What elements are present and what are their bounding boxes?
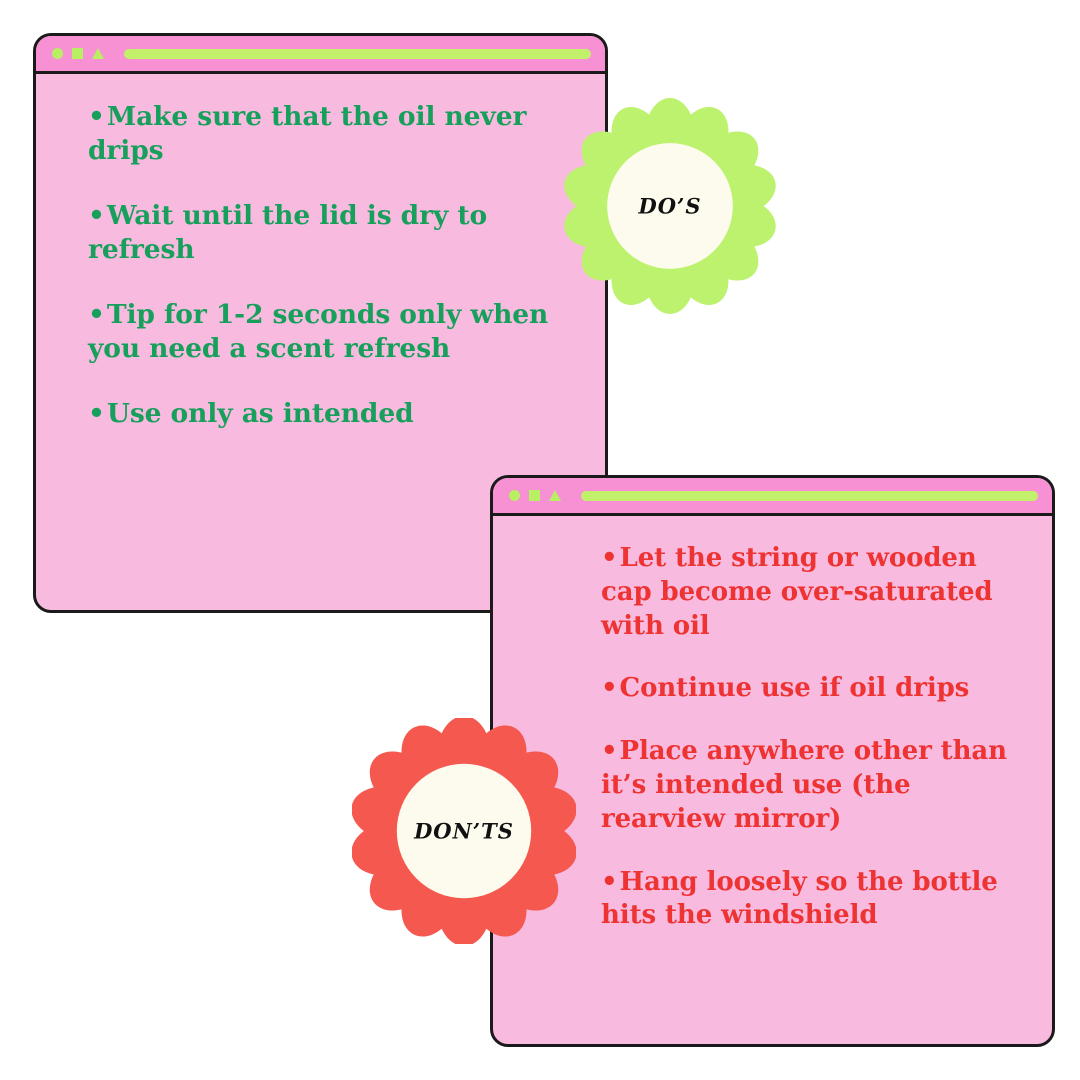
list-item: •Let the string or wooden cap become ove… [601,542,1026,643]
list-item: •Place anywhere other than it’s intended… [601,735,1026,836]
dos-list: •Make sure that the oil never drips •Wai… [88,100,579,431]
donts-window-content: •Let the string or wooden cap become ove… [493,516,1052,1044]
dos-address-bar[interactable] [124,49,591,59]
triangle-icon[interactable] [92,48,104,59]
donts-address-bar[interactable] [581,491,1038,501]
square-icon[interactable] [72,48,83,59]
list-item-text: Let the string or wooden cap become over… [601,543,993,641]
dos-window-controls[interactable] [52,48,104,59]
list-item-text: Wait until the lid is dry to refresh [88,200,487,265]
donts-flower-label: DON’TS [352,819,576,844]
list-item-text: Tip for 1-2 seconds only when you need a… [88,299,548,364]
bullet-marker: • [601,673,618,703]
bullet-marker: • [601,867,618,897]
list-item: •Tip for 1-2 seconds only when you need … [88,298,579,367]
donts-window-titlebar[interactable] [493,478,1052,516]
dos-window-titlebar[interactable] [36,36,605,74]
bullet-marker: • [601,543,618,573]
donts-flower-badge: DON’TS [352,718,576,944]
list-item: •Use only as intended [88,397,579,431]
list-item: •Make sure that the oil never drips [88,100,579,169]
bullet-marker: • [601,736,618,766]
square-icon[interactable] [529,490,540,501]
list-item-text: Use only as intended [107,398,414,429]
list-item: •Hang loosely so the bottle hits the win… [601,866,1026,934]
list-item-text: Make sure that the oil never drips [88,101,526,166]
circle-icon[interactable] [509,490,520,501]
dos-flower-badge: DO’S [562,92,778,320]
donts-list: •Let the string or wooden cap become ove… [601,542,1026,933]
poster-canvas: •Make sure that the oil never drips •Wai… [0,0,1080,1080]
list-item-text: Continue use if oil drips [620,673,970,703]
donts-window-controls[interactable] [509,490,561,501]
circle-icon[interactable] [52,48,63,59]
dos-flower-label: DO’S [562,194,778,219]
bullet-marker: • [88,299,105,330]
list-item-text: Place anywhere other than it’s intended … [601,736,1007,834]
bullet-marker: • [88,101,105,132]
list-item: •Wait until the lid is dry to refresh [88,199,579,268]
bullet-marker: • [88,398,105,429]
list-item-text: Hang loosely so the bottle hits the wind… [601,867,998,931]
list-item: •Continue use if oil drips [601,672,1026,706]
triangle-icon[interactable] [549,490,561,501]
bullet-marker: • [88,200,105,231]
